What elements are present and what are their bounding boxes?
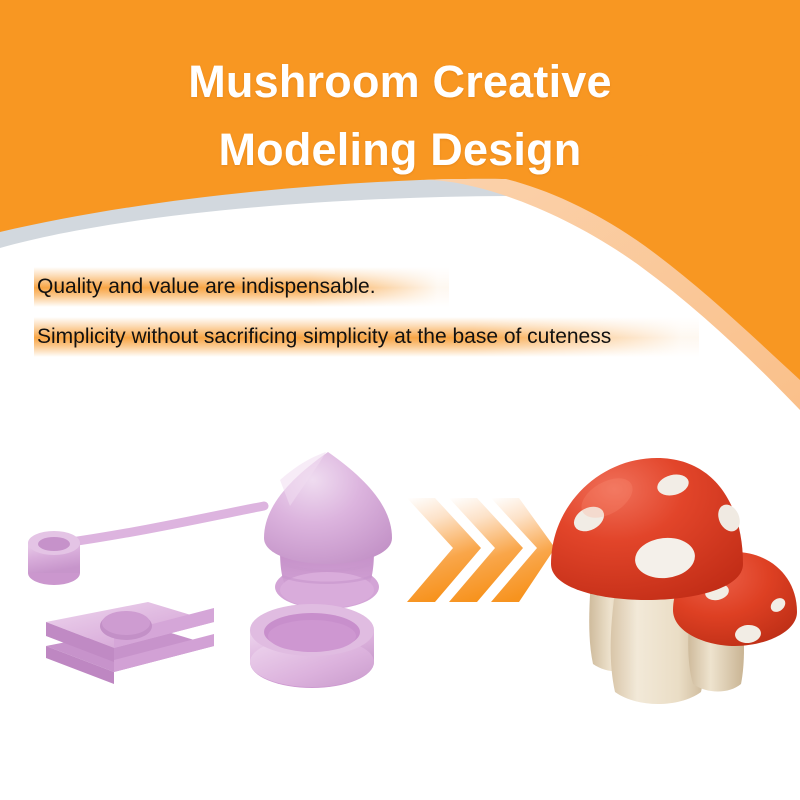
stopper-cap-part — [28, 531, 80, 585]
page-title-line-2: Modeling Design — [0, 116, 800, 184]
gasket-pad-part — [46, 602, 214, 684]
mushroom-main-cap — [551, 458, 744, 600]
ring-base-cup-part — [250, 604, 374, 688]
assembled-mushroom-illustration — [545, 440, 800, 720]
transform-arrow-icon — [405, 490, 555, 610]
tether-cord — [64, 506, 264, 543]
tagline-row-1: Quality and value are indispensable. — [34, 267, 449, 307]
poster-canvas: Mushroom Creative Modeling Design Qualit… — [0, 0, 800, 800]
cap-dome — [264, 452, 392, 564]
mushroom-cap-part — [264, 452, 392, 609]
page-title: Mushroom Creative Modeling Design — [0, 48, 800, 184]
product-showcase — [0, 430, 800, 800]
disassembled-parts-illustration — [22, 440, 422, 730]
page-title-line-1: Mushroom Creative — [0, 48, 800, 116]
tagline-text-1: Quality and value are indispensable. — [34, 275, 376, 299]
tagline-row-2: Simplicity without sacrificing simplicit… — [34, 317, 699, 357]
tagline-text-2: Simplicity without sacrificing simplicit… — [34, 325, 611, 349]
